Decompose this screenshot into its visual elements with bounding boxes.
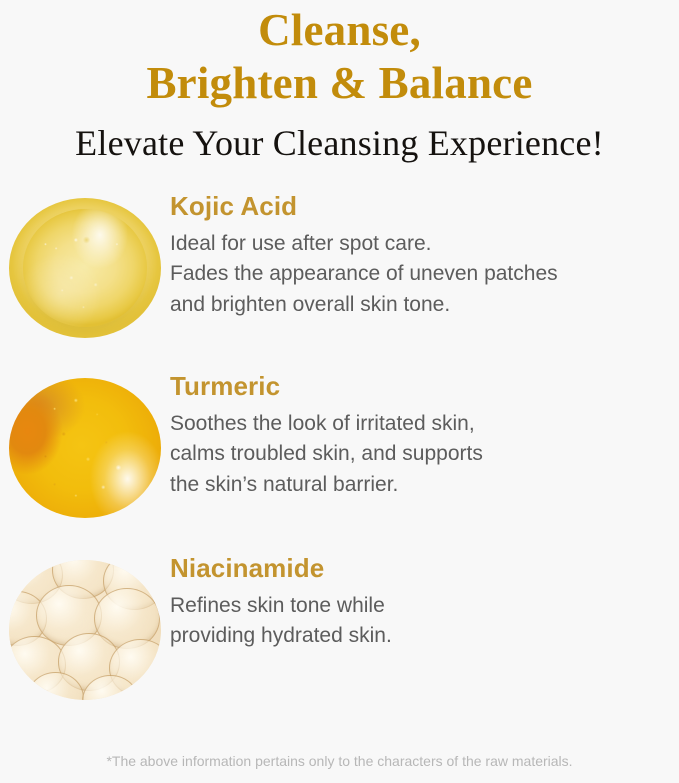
subheadline: Elevate Your Cleansing Experience! [0,122,679,164]
turmeric-powder-image [9,378,161,518]
ingredient-name-kojic-acid: Kojic Acid [170,192,679,221]
ingredient-thumb-wrap [0,554,170,700]
page-header: Cleanse, Brighten & Balance Elevate Your… [0,0,679,164]
description-line: providing hydrated skin. [170,621,679,651]
description-line: and brighten overall skin tone. [170,290,679,320]
disclaimer-footnote: *The above information pertains only to … [0,753,679,769]
headline-line-2: Brighten & Balance [0,57,679,110]
headline-line-1: Cleanse, [0,4,679,57]
ingredient-text-column: Kojic Acid Ideal for use after spot care… [170,192,679,320]
serum-droplet-image [9,198,161,338]
ingredient-row-niacinamide: Niacinamide Refines skin tone while prov… [0,554,679,700]
ingredient-thumb-wrap [0,372,170,518]
ingredient-row-kojic-acid: Kojic Acid Ideal for use after spot care… [0,192,679,338]
description-line: calms troubled skin, and supports [170,439,679,469]
ingredient-description-kojic-acid: Ideal for use after spot care. Fades the… [170,229,679,320]
ingredient-row-turmeric: Turmeric Soothes the look of irritated s… [0,372,679,518]
description-line: Ideal for use after spot care. [170,229,679,259]
ingredient-description-turmeric: Soothes the look of irritated skin, calm… [170,409,679,500]
ingredient-name-niacinamide: Niacinamide [170,554,679,583]
ingredient-text-column: Niacinamide Refines skin tone while prov… [170,554,679,651]
ingredient-name-turmeric: Turmeric [170,372,679,401]
ingredient-thumb-wrap [0,192,170,338]
ingredient-text-column: Turmeric Soothes the look of irritated s… [170,372,679,500]
description-line: Fades the appearance of uneven patches [170,259,679,289]
description-line: Soothes the look of irritated skin, [170,409,679,439]
niacinamide-bubbles-image [9,560,161,700]
ingredient-list: Kojic Acid Ideal for use after spot care… [0,192,679,700]
description-line: the skin’s natural barrier. [170,470,679,500]
ingredient-description-niacinamide: Refines skin tone while providing hydrat… [170,591,679,652]
description-line: Refines skin tone while [170,591,679,621]
